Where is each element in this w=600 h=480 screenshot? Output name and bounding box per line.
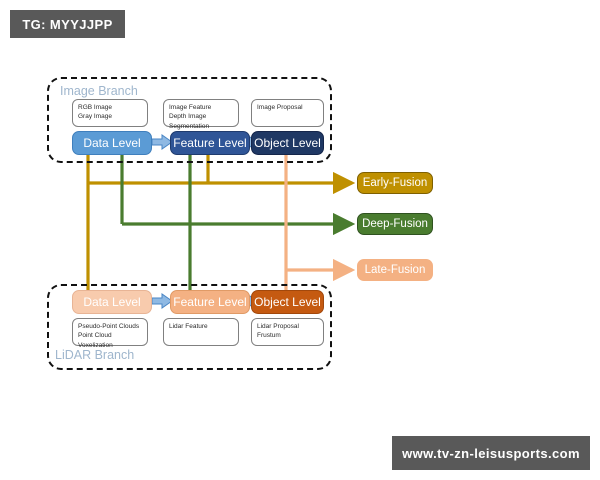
wire-early-fusion xyxy=(88,155,352,296)
late-fusion-box[interactable]: Late-Fusion xyxy=(357,259,433,281)
lidar-branch-label: LiDAR Branch xyxy=(55,348,134,362)
top-watermark: TG: MYYJJPP xyxy=(10,10,125,38)
deep-fusion-box[interactable]: Deep-Fusion xyxy=(357,213,433,235)
image-caption-object: Image Proposal xyxy=(251,99,324,127)
image-branch-label: Image Branch xyxy=(60,84,138,98)
wire-deep-fusion xyxy=(122,155,352,296)
image-data-level-box[interactable]: Data Level xyxy=(72,131,152,155)
lidar-object-level-box[interactable]: Object Level xyxy=(251,290,324,314)
lidar-caption-data: Pseudo-Point CloudsPoint CloudVoxelizati… xyxy=(72,318,148,346)
wire-late-fusion xyxy=(286,155,352,296)
lidar-data-level-box[interactable]: Data Level xyxy=(72,290,152,314)
lidar-caption-object: Lidar ProposalFrustum xyxy=(251,318,324,346)
lidar-caption-feature: Lidar Feature xyxy=(163,318,239,346)
early-fusion-box[interactable]: Early-Fusion xyxy=(357,172,433,194)
image-caption-feature: Image FeatureDepth ImageSegmentation xyxy=(163,99,239,127)
image-object-level-box[interactable]: Object Level xyxy=(251,131,324,155)
bottom-watermark: www.tv-zn-leisusports.com xyxy=(392,436,590,470)
image-feature-level-box[interactable]: Feature Level xyxy=(170,131,250,155)
connector-layer xyxy=(0,0,600,480)
image-caption-data: RGB ImageGray Image xyxy=(72,99,148,127)
diagram-canvas: Image Branch RGB ImageGray Image Image F… xyxy=(0,0,600,480)
lidar-feature-level-box[interactable]: Feature Level xyxy=(170,290,250,314)
